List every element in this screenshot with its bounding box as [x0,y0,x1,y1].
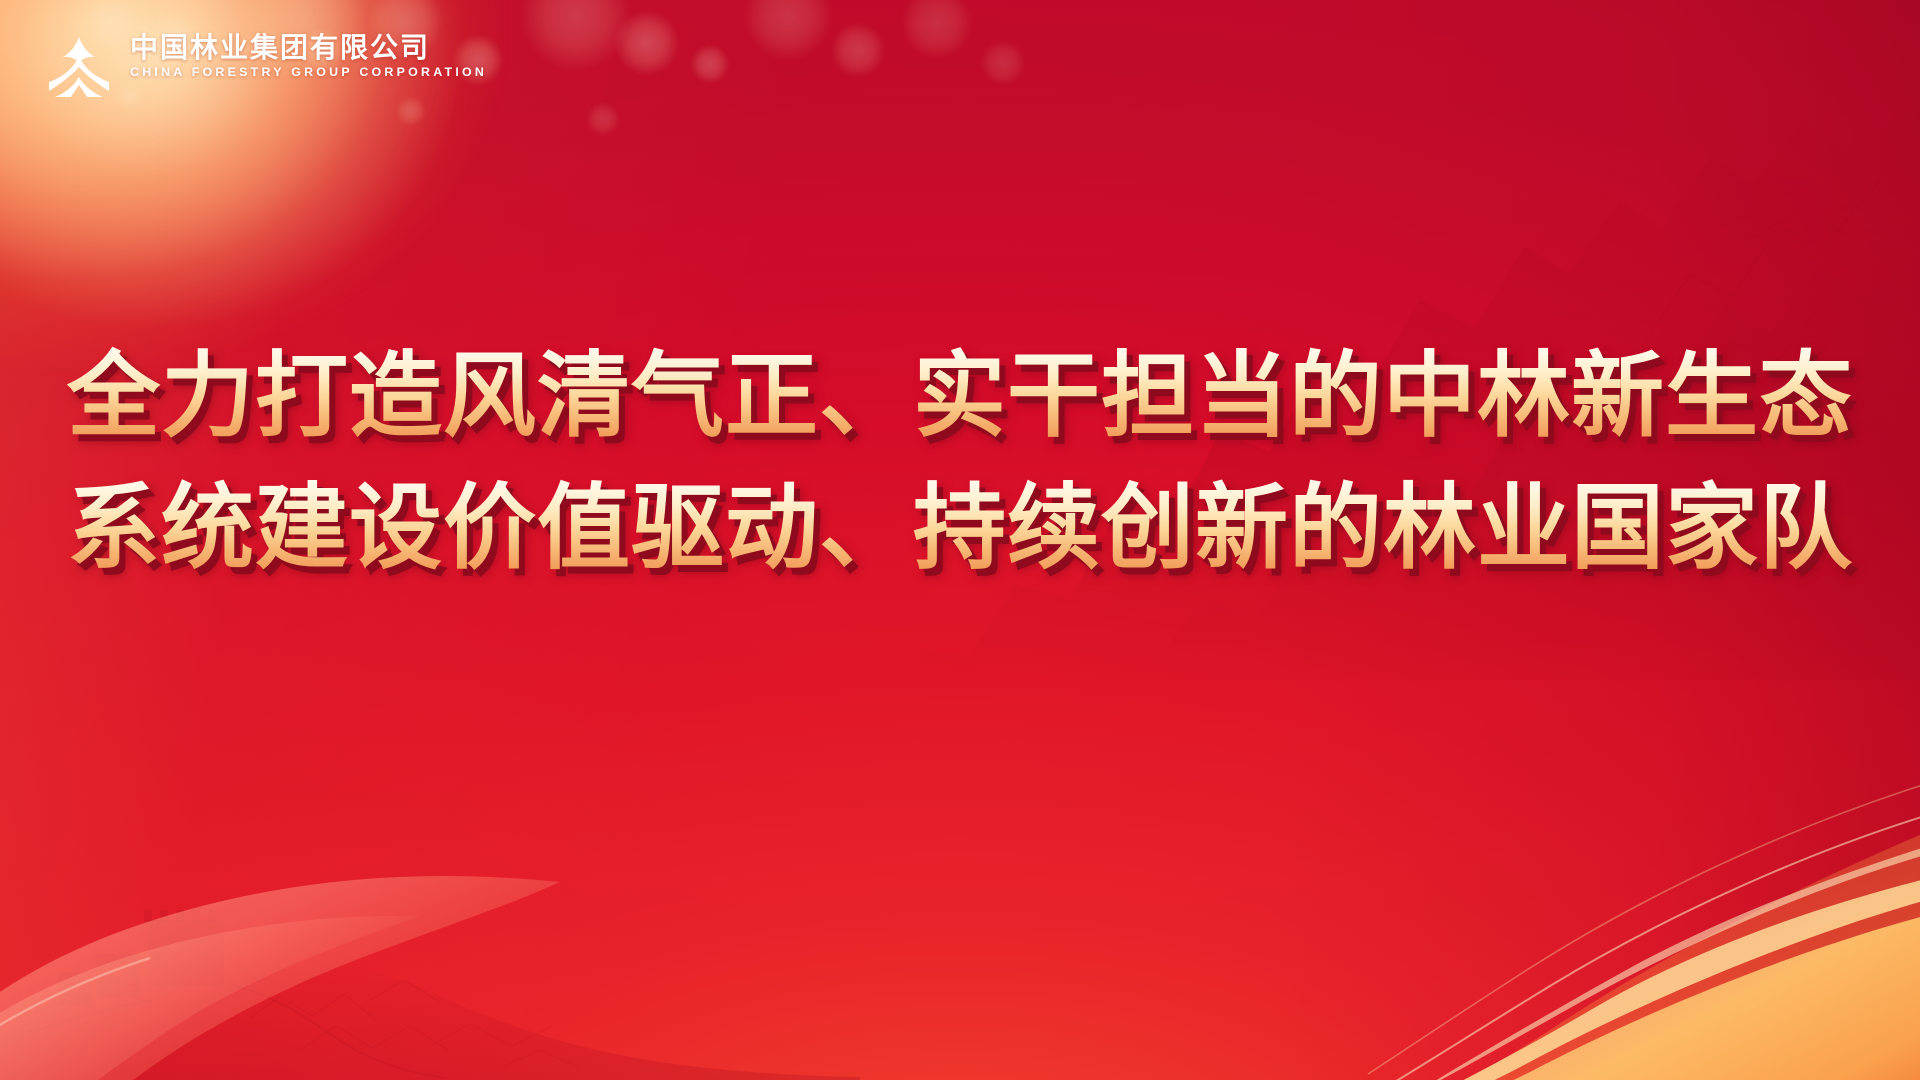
company-name-cn: 中国林业集团有限公司 [130,34,487,62]
headline-line-1-text: 全力打造风清气正、实干担当的中林新生态 [67,330,1853,462]
headline-line-2-wrap: 系统建设价值驱动、持续创新的林业国家队 系统建设价值驱动、持续创新的林业国家队 [67,462,1853,594]
headline-block: 全力打造风清气正、实干担当的中林新生态 全力打造风清气正、实干担当的中林新生态 … [0,330,1920,594]
headline-line-2: 系统建设价值驱动、持续创新的林业国家队 系统建设价值驱动、持续创新的林业国家队 [67,462,1853,594]
brand-logo-lockup[interactable]: 中国林业集团有限公司 CHINA FORESTRY GROUP CORPORAT… [46,32,487,98]
company-name-en: CHINA FORESTRY GROUP CORPORATION [130,66,487,78]
banner-canvas: 中国林业集团有限公司 CHINA FORESTRY GROUP CORPORAT… [0,0,1920,1080]
headline-line-2-text: 系统建设价值驱动、持续创新的林业国家队 [67,462,1853,594]
china-forestry-group-tree-mark [46,36,112,98]
headline-line-1: 全力打造风清气正、实干担当的中林新生态 全力打造风清气正、实干担当的中林新生态 [67,330,1853,462]
brand-logo-text: 中国林业集团有限公司 CHINA FORESTRY GROUP CORPORAT… [130,32,487,78]
headline-line-1-wrap: 全力打造风清气正、实干担当的中林新生态 全力打造风清气正、实干担当的中林新生态 [67,330,1853,462]
